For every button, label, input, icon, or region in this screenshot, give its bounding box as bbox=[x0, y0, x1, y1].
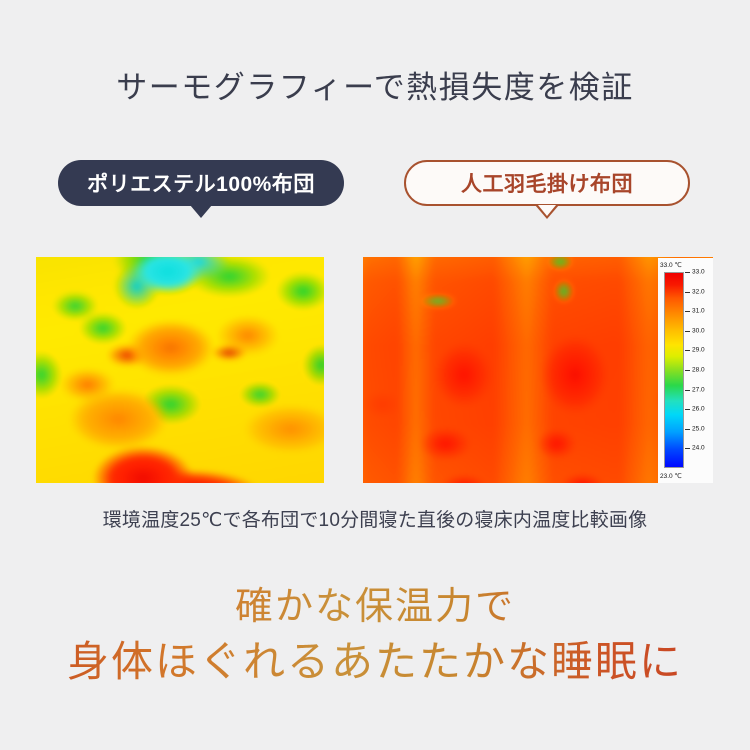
scale-color-bar bbox=[664, 272, 684, 468]
scale-tick-mark bbox=[685, 429, 690, 430]
promo-page: サーモグラフィーで熱損失度を検証 ポリエステル100%布団 人工羽毛掛け布団 3… bbox=[0, 0, 750, 750]
scale-tick-mark bbox=[685, 311, 690, 312]
scale-tick-label: 31.0 bbox=[692, 308, 705, 315]
badge-artificial-down-futon: 人工羽毛掛け布団 bbox=[404, 160, 690, 206]
figure-caption: 環境温度25℃で各布団で10分間寝た直後の寝床内温度比較画像 bbox=[0, 505, 750, 532]
scale-tick-mark bbox=[685, 390, 690, 391]
scale-tick-label: 32.0 bbox=[692, 288, 705, 295]
scale-tick-mark bbox=[685, 331, 690, 332]
scale-tick-label: 28.0 bbox=[692, 367, 705, 374]
scale-tick-mark bbox=[685, 292, 690, 293]
scale-tick-label: 33.0 bbox=[692, 269, 705, 276]
scale-tick-mark bbox=[685, 272, 690, 273]
scale-tick-label: 26.0 bbox=[692, 406, 705, 413]
badge-left-label: ポリエステル100%布団 bbox=[87, 168, 315, 198]
scale-tick-label: 27.0 bbox=[692, 386, 705, 393]
badge-right-tail-inner-icon bbox=[538, 205, 556, 216]
scale-tick-mark bbox=[685, 448, 690, 449]
badge-polyester-futon: ポリエステル100%布団 bbox=[58, 160, 344, 206]
scale-max-label: 33.0 ℃ bbox=[660, 261, 682, 269]
scale-tick-mark bbox=[685, 409, 690, 410]
thermal-image-left bbox=[36, 257, 324, 483]
scale-tick-mark bbox=[685, 350, 690, 351]
closing-headline: 確かな保温力で 身体ほぐれるあたたかな睡眠に bbox=[0, 578, 750, 690]
scale-tick-label: 24.0 bbox=[692, 445, 705, 452]
scale-min-label: 23.0 ℃ bbox=[660, 472, 682, 480]
scale-tick-label: 30.0 bbox=[692, 327, 705, 334]
page-title: サーモグラフィーで熱損失度を検証 bbox=[0, 62, 750, 107]
headline-line-2: 身体ほぐれるあたたかな睡眠に bbox=[0, 634, 750, 690]
scale-tick-label: 25.0 bbox=[692, 425, 705, 432]
badge-right-label: 人工羽毛掛け布団 bbox=[461, 168, 633, 198]
scale-tick-mark bbox=[685, 370, 690, 371]
scale-tick-label: 29.0 bbox=[692, 347, 705, 354]
badge-left-tail-icon bbox=[190, 205, 212, 218]
thermal-left-canvas bbox=[36, 257, 324, 483]
temperature-scale-panel: 33.0 ℃ 23.0 ℃ 33.032.031.030.029.028.027… bbox=[658, 258, 713, 483]
headline-line-1: 確かな保温力で bbox=[0, 578, 750, 634]
